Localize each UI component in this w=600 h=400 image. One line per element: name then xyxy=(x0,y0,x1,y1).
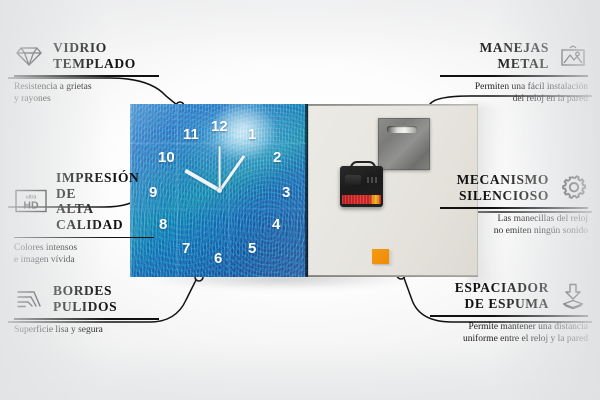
foam-spacer-arrow-icon xyxy=(558,283,588,309)
feature-divider xyxy=(440,207,588,208)
infographic-canvas: 12 1 2 3 4 5 6 7 8 9 10 11 xyxy=(0,0,600,400)
feature-title: BORDES PULIDOS xyxy=(53,283,117,314)
wall-clock-product: 12 1 2 3 4 5 6 7 8 9 10 11 xyxy=(130,104,478,277)
feature-header: ESPACIADOR DE ESPUMA xyxy=(430,280,588,311)
diamond-icon xyxy=(14,43,44,69)
foam-spacer xyxy=(372,249,389,264)
feature-divider xyxy=(440,75,588,76)
feature-title: IMPRESIÓN DE ALTA CALIDAD xyxy=(56,170,154,233)
svg-text:HD: HD xyxy=(23,200,39,212)
feature-description: Superficie lisa y segura xyxy=(14,324,159,336)
metal-hanger-plate xyxy=(378,118,430,170)
feature-title: ESPACIADOR DE ESPUMA xyxy=(455,280,549,311)
feature-divider xyxy=(430,315,588,316)
feature-header: ultra HD IMPRESIÓN DE ALTA CALIDAD xyxy=(14,170,154,233)
silent-clock-mechanism xyxy=(340,166,383,207)
feature-espaciador-espuma: ESPACIADOR DE ESPUMA Permite mantener un… xyxy=(430,280,588,345)
clock-face-panel: 12 1 2 3 4 5 6 7 8 9 10 11 xyxy=(130,104,308,277)
feature-manejas-metal: MANEJAS METAL Permiten una fácil instala… xyxy=(440,40,588,105)
glass-sheen xyxy=(130,104,308,277)
feature-header: MECANISMO SILENCIOSO xyxy=(440,172,588,203)
wall-hanging-frame-icon xyxy=(558,43,588,69)
mechanism-dial xyxy=(345,175,361,185)
feature-title: MECANISMO SILENCIOSO xyxy=(457,172,549,203)
feature-header: MANEJAS METAL xyxy=(440,40,588,71)
hanger-slot xyxy=(387,126,417,133)
battery-compartment xyxy=(342,195,381,204)
ultra-hd-icon: ultra HD xyxy=(14,188,47,214)
feature-description: Resistencia a grietas y rayones xyxy=(14,81,159,105)
feature-mecanismo-silencioso: MECANISMO SILENCIOSO Las manecillas del … xyxy=(440,172,588,237)
feature-title: MANEJAS METAL xyxy=(480,40,549,71)
feature-description: Permiten una fácil instalación del reloj… xyxy=(440,81,588,105)
feature-divider xyxy=(14,75,159,76)
feature-description: Colores intensos e imagen vívida xyxy=(14,242,154,266)
mechanism-contacts xyxy=(367,177,379,183)
foam-spacer-shadow xyxy=(389,251,394,266)
feature-divider xyxy=(14,237,154,238)
feature-vidrio-templado: VIDRIO TEMPLADO Resistencia a grietas y … xyxy=(14,40,159,105)
feature-divider xyxy=(14,318,159,319)
feature-description: Permite mantener una distancia uniforme … xyxy=(430,321,588,345)
feature-bordes-pulidos: BORDES PULIDOS Superficie lisa y segura xyxy=(14,283,159,336)
feature-header: BORDES PULIDOS xyxy=(14,283,159,314)
feature-title: VIDRIO TEMPLADO xyxy=(53,40,136,71)
feature-header: VIDRIO TEMPLADO xyxy=(14,40,159,71)
feature-description: Las manecillas del reloj no emiten ningú… xyxy=(440,213,588,237)
mechanism-loop xyxy=(350,161,376,173)
gear-icon xyxy=(558,175,588,201)
polished-edges-icon xyxy=(14,286,44,312)
feature-impresion-alta-calidad: ultra HD IMPRESIÓN DE ALTA CALIDAD Color… xyxy=(14,170,154,266)
back-panel-bottom-edge xyxy=(308,275,478,277)
